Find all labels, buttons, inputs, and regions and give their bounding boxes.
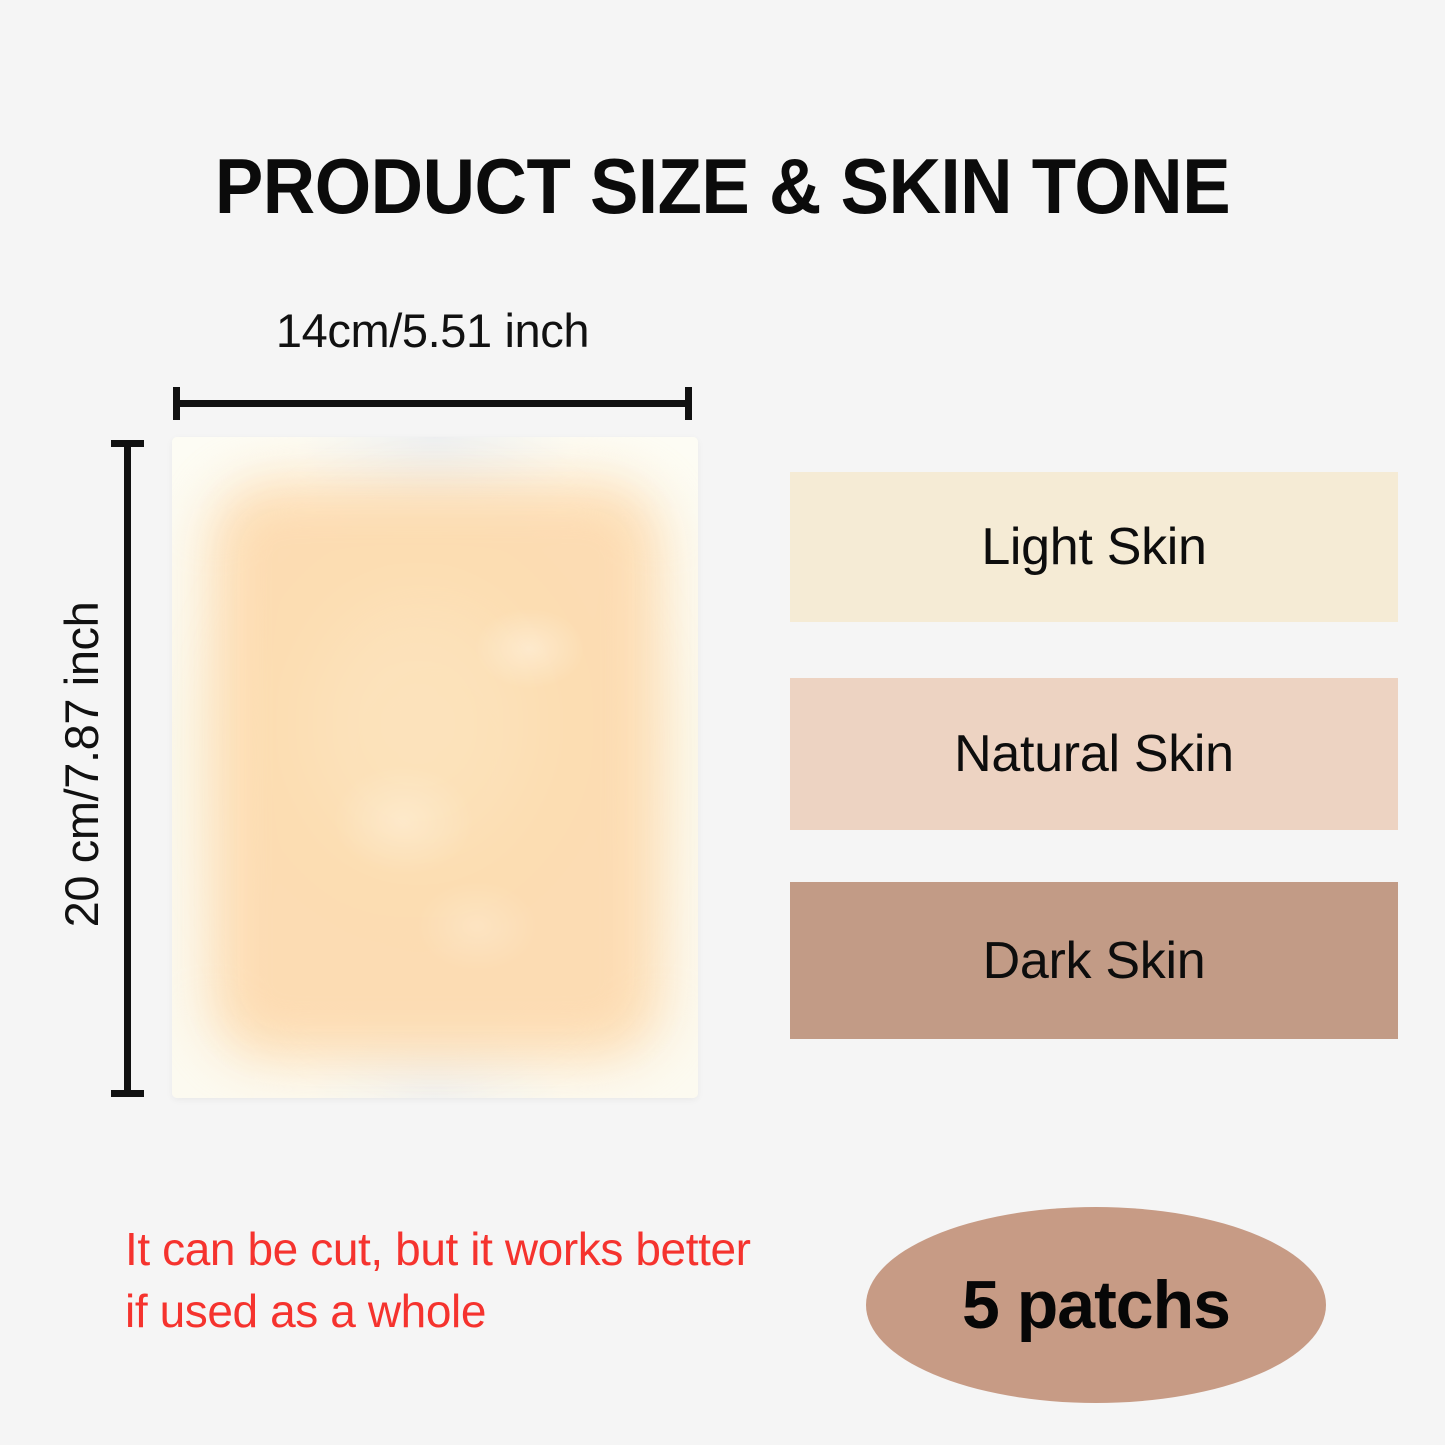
product-patch (210, 481, 662, 1059)
height-dimension-label: 20 cm/7.87 inch (54, 436, 109, 1093)
cut-warning-note: It can be cut, but it works better if us… (125, 1218, 785, 1342)
skin-tone-swatch-light: Light Skin (790, 472, 1398, 622)
quantity-badge: 5 patchs (866, 1207, 1326, 1403)
skin-tone-label: Natural Skin (954, 724, 1234, 784)
skin-tone-label: Dark Skin (983, 931, 1206, 991)
skin-tone-swatch-dark: Dark Skin (790, 882, 1398, 1039)
width-dimension-line (173, 400, 692, 407)
width-dimension-label: 14cm/5.51 inch (173, 303, 692, 358)
height-dimension-line (124, 440, 131, 1097)
product-infographic: PRODUCT SIZE & SKIN TONE 14cm/5.51 inch … (0, 0, 1445, 1445)
quantity-badge-label: 5 patchs (962, 1266, 1230, 1344)
page-title: PRODUCT SIZE & SKIN TONE (51, 138, 1395, 234)
skin-tone-swatch-natural: Natural Skin (790, 678, 1398, 830)
skin-tone-label: Light Skin (981, 517, 1206, 577)
product-image (172, 437, 698, 1098)
